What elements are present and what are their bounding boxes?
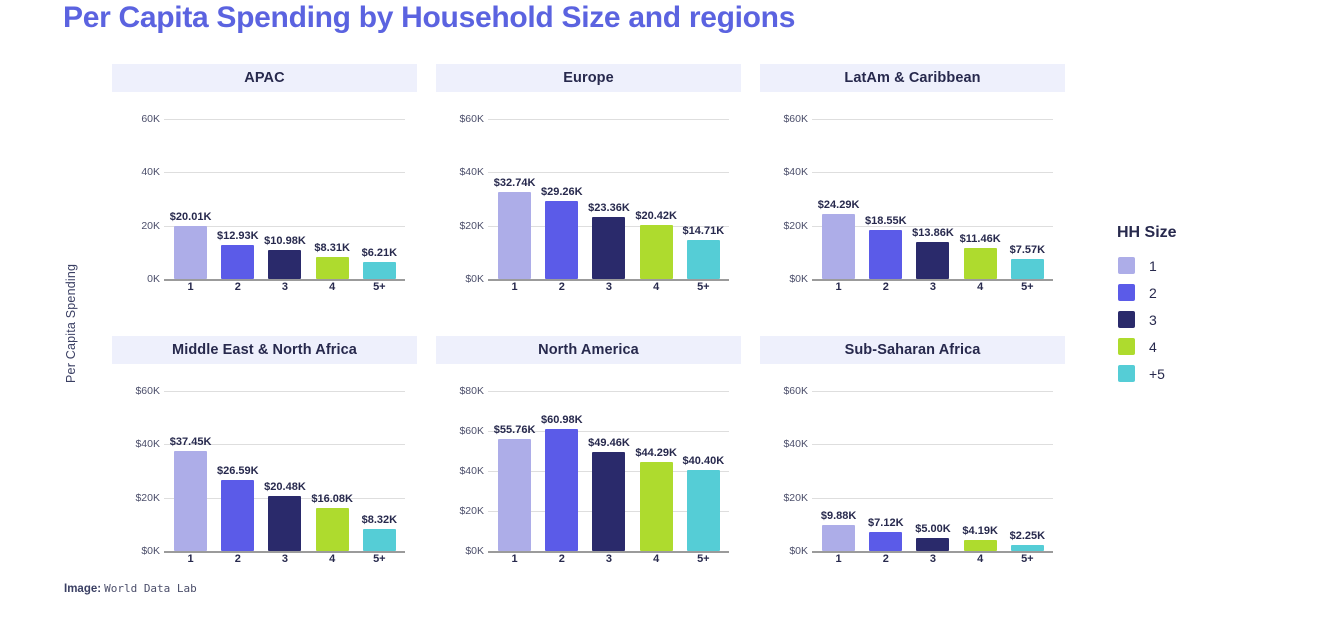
x-axis-labels: 12345+ bbox=[815, 553, 1051, 568]
legend-item[interactable]: 1 bbox=[1118, 252, 1298, 279]
x-axis-tick-label: 1 bbox=[815, 553, 862, 568]
bar-slot: $23.36K bbox=[585, 119, 632, 279]
facet-title: Sub-Saharan Africa bbox=[760, 336, 1065, 364]
bar-slot: $5.00K bbox=[909, 391, 956, 551]
y-axis-tick-label: $0K bbox=[762, 273, 808, 285]
x-axis-tick-label: 3 bbox=[261, 281, 308, 296]
x-axis-tick-label: 4 bbox=[309, 553, 356, 568]
facet-title: Middle East & North Africa bbox=[112, 336, 417, 364]
bar[interactable] bbox=[916, 242, 949, 279]
bar-value-label: $7.12K bbox=[868, 517, 903, 529]
bar-value-label: $18.55K bbox=[865, 215, 907, 227]
bar-value-label: $6.21K bbox=[362, 247, 397, 259]
bar-value-label: $40.40K bbox=[683, 455, 725, 467]
bar[interactable] bbox=[221, 245, 254, 279]
footer-source: World Data Lab bbox=[104, 582, 197, 595]
bar-value-label: $23.36K bbox=[588, 202, 630, 214]
plot-area: $0K$20K$40K$60K$24.29K$18.55K$13.86K$11.… bbox=[760, 104, 1065, 296]
x-axis-tick-label: 4 bbox=[633, 553, 680, 568]
y-axis-tick-label: 0K bbox=[114, 273, 160, 285]
y-axis-tick-label: 20K bbox=[114, 220, 160, 232]
legend-item[interactable]: +5 bbox=[1118, 360, 1298, 387]
bar[interactable] bbox=[869, 532, 902, 551]
plot-area: $0K$20K$40K$60K$37.45K$26.59K$20.48K$16.… bbox=[112, 376, 417, 568]
y-axis-tick-label: $0K bbox=[114, 545, 160, 557]
legend-item-label: 3 bbox=[1149, 312, 1157, 328]
bar-value-label: $20.42K bbox=[635, 210, 677, 222]
bar-slot: $7.57K bbox=[1004, 119, 1051, 279]
bar[interactable] bbox=[687, 240, 720, 279]
bar-group: $9.88K$7.12K$5.00K$4.19K$2.25K bbox=[815, 391, 1051, 551]
chart-page: Per Capita Spending by Household Size an… bbox=[0, 0, 1328, 624]
x-axis-tick-label: 4 bbox=[957, 553, 1004, 568]
facet-panel: APAC0K20K40K60K$20.01K$12.93K$10.98K$8.3… bbox=[112, 64, 417, 296]
x-axis-tick-label: 5+ bbox=[356, 553, 403, 568]
bar-value-label: $49.46K bbox=[588, 437, 630, 449]
facet-title: Europe bbox=[436, 64, 741, 92]
bar-value-label: $20.01K bbox=[170, 211, 212, 223]
x-axis-tick-label: 2 bbox=[538, 281, 585, 296]
x-axis-tick-label: 3 bbox=[909, 553, 956, 568]
bar[interactable] bbox=[964, 248, 997, 279]
bar-value-label: $9.88K bbox=[821, 510, 856, 522]
legend-item-label: +5 bbox=[1149, 366, 1165, 382]
legend-item[interactable]: 2 bbox=[1118, 279, 1298, 306]
bar-slot: $13.86K bbox=[909, 119, 956, 279]
y-axis-tick-label: $0K bbox=[438, 545, 484, 557]
plot-area: $0K$20K$40K$60K$32.74K$29.26K$23.36K$20.… bbox=[436, 104, 741, 296]
x-axis-tick-label: 2 bbox=[214, 553, 261, 568]
bar-slot: $20.48K bbox=[261, 391, 308, 551]
x-axis-tick-label: 4 bbox=[633, 281, 680, 296]
y-axis-tick-label: $40K bbox=[762, 438, 808, 450]
bar-value-label: $7.57K bbox=[1010, 244, 1045, 256]
facet-panel: North America$0K$20K$40K$60K$80K$55.76K$… bbox=[436, 336, 741, 568]
facet-panel: Middle East & North Africa$0K$20K$40K$60… bbox=[112, 336, 417, 568]
bar[interactable] bbox=[916, 538, 949, 551]
x-axis-tick-label: 3 bbox=[261, 553, 308, 568]
bar-value-label: $12.93K bbox=[217, 230, 259, 242]
bar-group: $37.45K$26.59K$20.48K$16.08K$8.32K bbox=[167, 391, 403, 551]
x-axis-tick-label: 2 bbox=[538, 553, 585, 568]
legend-swatch-icon bbox=[1118, 311, 1135, 328]
facet-panel: LatAm & Caribbean$0K$20K$40K$60K$24.29K$… bbox=[760, 64, 1065, 296]
legend-item-label: 1 bbox=[1149, 258, 1157, 274]
bar-slot: $4.19K bbox=[957, 391, 1004, 551]
x-axis-tick-label: 2 bbox=[214, 281, 261, 296]
bar-value-label: $26.59K bbox=[217, 465, 259, 477]
bar[interactable] bbox=[822, 214, 855, 279]
y-axis-tick-label: $20K bbox=[762, 220, 808, 232]
bar-value-label: $14.71K bbox=[683, 225, 725, 237]
x-axis-tick-label: 3 bbox=[909, 281, 956, 296]
y-axis-tick-label: $20K bbox=[438, 220, 484, 232]
x-axis-labels: 12345+ bbox=[815, 281, 1051, 296]
bar[interactable] bbox=[869, 230, 902, 279]
bar[interactable] bbox=[822, 525, 855, 551]
y-axis-tick-label: $60K bbox=[762, 385, 808, 397]
x-axis-tick-label: 1 bbox=[491, 281, 538, 296]
bar-value-label: $20.48K bbox=[264, 481, 306, 493]
bar-slot: $20.01K bbox=[167, 119, 214, 279]
y-axis-tick-label: $40K bbox=[114, 438, 160, 450]
bar-slot: $44.29K bbox=[633, 391, 680, 551]
y-axis-label: Per Capita Spending bbox=[64, 248, 84, 398]
bar-value-label: $13.86K bbox=[912, 227, 954, 239]
y-axis-tick-label: $60K bbox=[438, 425, 484, 437]
bar-value-label: $8.32K bbox=[362, 514, 397, 526]
plot-area: $0K$20K$40K$60K$80K$55.76K$60.98K$49.46K… bbox=[436, 376, 741, 568]
facet-grid: APAC0K20K40K60K$20.01K$12.93K$10.98K$8.3… bbox=[112, 64, 1064, 564]
bar-slot: $37.45K bbox=[167, 391, 214, 551]
x-axis-tick-label: 1 bbox=[167, 553, 214, 568]
bar[interactable] bbox=[964, 540, 997, 551]
bar[interactable] bbox=[640, 462, 673, 551]
bar-group: $55.76K$60.98K$49.46K$44.29K$40.40K bbox=[491, 391, 727, 551]
facet-title: North America bbox=[436, 336, 741, 364]
bar-value-label: $60.98K bbox=[541, 414, 583, 426]
y-axis-tick-label: 60K bbox=[114, 113, 160, 125]
bar[interactable] bbox=[174, 451, 207, 551]
x-axis-labels: 12345+ bbox=[491, 553, 727, 568]
bar[interactable] bbox=[174, 226, 207, 279]
y-axis-tick-label: $40K bbox=[438, 166, 484, 178]
bar-value-label: $29.26K bbox=[541, 186, 583, 198]
legend-swatch-icon bbox=[1118, 365, 1135, 382]
y-axis-tick-label: $20K bbox=[762, 492, 808, 504]
bar-slot: $7.12K bbox=[862, 391, 909, 551]
bar-slot: $60.98K bbox=[538, 391, 585, 551]
bar-slot: $2.25K bbox=[1004, 391, 1051, 551]
bar-slot: $29.26K bbox=[538, 119, 585, 279]
facet-title: LatAm & Caribbean bbox=[760, 64, 1065, 92]
bar[interactable] bbox=[363, 529, 396, 551]
facet-title: APAC bbox=[112, 64, 417, 92]
legend-item[interactable]: 4 bbox=[1118, 333, 1298, 360]
bar[interactable] bbox=[498, 439, 531, 551]
bar-slot: $26.59K bbox=[214, 391, 261, 551]
y-axis-tick-label: $60K bbox=[762, 113, 808, 125]
bar-value-label: $55.76K bbox=[494, 424, 536, 436]
bar[interactable] bbox=[268, 250, 301, 279]
legend-item-label: 2 bbox=[1149, 285, 1157, 301]
bar[interactable] bbox=[316, 257, 349, 279]
legend-swatch-icon bbox=[1118, 257, 1135, 274]
bar-value-label: $16.08K bbox=[311, 493, 353, 505]
bar[interactable] bbox=[545, 429, 578, 551]
bar-value-label: $5.00K bbox=[915, 523, 950, 535]
x-axis-tick-label: 5+ bbox=[356, 281, 403, 296]
plot-area: 0K20K40K60K$20.01K$12.93K$10.98K$8.31K$6… bbox=[112, 104, 417, 296]
bar-value-label: $2.25K bbox=[1010, 530, 1045, 542]
bar[interactable] bbox=[363, 262, 396, 279]
bar-value-label: $37.45K bbox=[170, 436, 212, 448]
x-axis-tick-label: 2 bbox=[862, 553, 909, 568]
x-axis-tick-label: 1 bbox=[491, 553, 538, 568]
bar-slot: $40.40K bbox=[680, 391, 727, 551]
facet-panel: Sub-Saharan Africa$0K$20K$40K$60K$9.88K$… bbox=[760, 336, 1065, 568]
bar-value-label: $8.31K bbox=[314, 242, 349, 254]
y-axis-tick-label: $20K bbox=[438, 505, 484, 517]
legend-items: 1234+5 bbox=[1118, 252, 1298, 387]
bar[interactable] bbox=[592, 452, 625, 551]
x-axis-tick-label: 5+ bbox=[1004, 553, 1051, 568]
y-axis-tick-label: $40K bbox=[438, 465, 484, 477]
facet-panel: Europe$0K$20K$40K$60K$32.74K$29.26K$23.3… bbox=[436, 64, 741, 296]
bar-slot: $9.88K bbox=[815, 391, 862, 551]
bar[interactable] bbox=[498, 192, 531, 279]
bar-value-label: $44.29K bbox=[635, 447, 677, 459]
bar-value-label: $24.29K bbox=[818, 199, 860, 211]
bar-group: $20.01K$12.93K$10.98K$8.31K$6.21K bbox=[167, 119, 403, 279]
legend-item[interactable]: 3 bbox=[1118, 306, 1298, 333]
y-axis-tick-label: $40K bbox=[762, 166, 808, 178]
x-axis-labels: 12345+ bbox=[167, 553, 403, 568]
bar[interactable] bbox=[687, 470, 720, 551]
legend: HH Size 1234+5 bbox=[1118, 224, 1298, 387]
bar-group: $24.29K$18.55K$13.86K$11.46K$7.57K bbox=[815, 119, 1051, 279]
y-axis-tick-label: $80K bbox=[438, 385, 484, 397]
x-axis-tick-label: 4 bbox=[957, 281, 1004, 296]
bar[interactable] bbox=[316, 508, 349, 551]
bar-value-label: $11.46K bbox=[960, 233, 1001, 245]
bar[interactable] bbox=[268, 496, 301, 551]
bar-slot: $20.42K bbox=[633, 119, 680, 279]
bar[interactable] bbox=[1011, 259, 1044, 279]
legend-swatch-icon bbox=[1118, 284, 1135, 301]
bar-slot: $8.32K bbox=[356, 391, 403, 551]
x-axis-tick-label: 4 bbox=[309, 281, 356, 296]
bar-slot: $11.46K bbox=[957, 119, 1004, 279]
bar-slot: $49.46K bbox=[585, 391, 632, 551]
bar-value-label: $32.74K bbox=[494, 177, 536, 189]
x-axis-labels: 12345+ bbox=[491, 281, 727, 296]
y-axis-tick-label: $20K bbox=[114, 492, 160, 504]
bar[interactable] bbox=[1011, 545, 1044, 551]
bar-slot: $24.29K bbox=[815, 119, 862, 279]
x-axis-labels: 12345+ bbox=[167, 281, 403, 296]
x-axis-tick-label: 2 bbox=[862, 281, 909, 296]
bar[interactable] bbox=[640, 225, 673, 279]
x-axis-tick-label: 3 bbox=[585, 281, 632, 296]
bar-slot: $55.76K bbox=[491, 391, 538, 551]
x-axis-tick-label: 1 bbox=[167, 281, 214, 296]
bar-slot: $8.31K bbox=[309, 119, 356, 279]
bar-slot: $6.21K bbox=[356, 119, 403, 279]
footer-credit: Image:World Data Lab bbox=[64, 582, 197, 595]
y-axis-tick-label: $60K bbox=[438, 113, 484, 125]
x-axis-tick-label: 5+ bbox=[680, 281, 727, 296]
bar-slot: $10.98K bbox=[261, 119, 308, 279]
y-axis-tick-label: $0K bbox=[438, 273, 484, 285]
x-axis-tick-label: 1 bbox=[815, 281, 862, 296]
bar-value-label: $4.19K bbox=[962, 525, 997, 537]
x-axis-tick-label: 5+ bbox=[1004, 281, 1051, 296]
bar[interactable] bbox=[545, 201, 578, 279]
bar-value-label: $10.98K bbox=[264, 235, 306, 247]
bar-slot: $32.74K bbox=[491, 119, 538, 279]
bar-slot: $12.93K bbox=[214, 119, 261, 279]
bar[interactable] bbox=[221, 480, 254, 551]
x-axis-tick-label: 5+ bbox=[680, 553, 727, 568]
bar[interactable] bbox=[592, 217, 625, 279]
y-axis-tick-label: $0K bbox=[762, 545, 808, 557]
legend-swatch-icon bbox=[1118, 338, 1135, 355]
bar-group: $32.74K$29.26K$23.36K$20.42K$14.71K bbox=[491, 119, 727, 279]
plot-area: $0K$20K$40K$60K$9.88K$7.12K$5.00K$4.19K$… bbox=[760, 376, 1065, 568]
y-axis-tick-label: 40K bbox=[114, 166, 160, 178]
x-axis-tick-label: 3 bbox=[585, 553, 632, 568]
page-title: Per Capita Spending by Household Size an… bbox=[63, 1, 795, 35]
bar-slot: $18.55K bbox=[862, 119, 909, 279]
bar-slot: $16.08K bbox=[309, 391, 356, 551]
footer-label: Image: bbox=[64, 583, 101, 595]
bar-slot: $14.71K bbox=[680, 119, 727, 279]
y-axis-tick-label: $60K bbox=[114, 385, 160, 397]
legend-title: HH Size bbox=[1117, 224, 1298, 242]
legend-item-label: 4 bbox=[1149, 339, 1157, 355]
